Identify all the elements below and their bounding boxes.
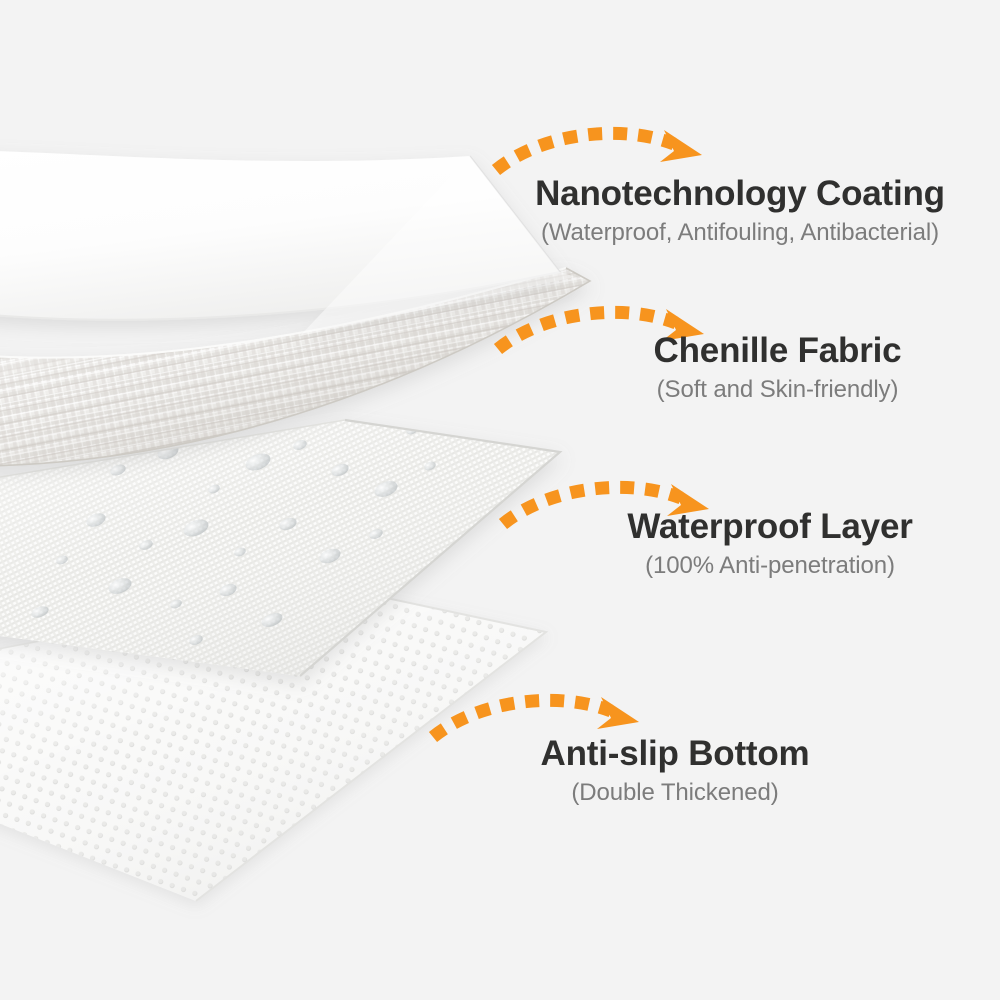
callout-title: Anti-slip Bottom <box>500 735 850 773</box>
callout-waterproof-layer: Waterproof Layer (100% Anti-penetration) <box>595 508 945 579</box>
callout-subtitle: (Soft and Skin-friendly) <box>600 376 955 404</box>
callout-title: Waterproof Layer <box>595 508 945 546</box>
callout-subtitle: (Double Thickened) <box>500 779 850 807</box>
callout-subtitle: (100% Anti-penetration) <box>595 552 945 580</box>
infographic-canvas: Nanotechnology Coating (Waterproof, Anti… <box>0 0 1000 1000</box>
callout-title: Chenille Fabric <box>600 332 955 370</box>
product-layer-illustration <box>0 0 1000 1000</box>
callout-title: Nanotechnology Coating <box>485 175 995 213</box>
callout-nanotechnology-coating: Nanotechnology Coating (Waterproof, Anti… <box>485 175 995 246</box>
callout-anti-slip-bottom: Anti-slip Bottom (Double Thickened) <box>500 735 850 806</box>
callout-subtitle: (Waterproof, Antifouling, Antibacterial) <box>485 219 995 247</box>
callout-chenille-fabric: Chenille Fabric (Soft and Skin-friendly) <box>600 332 955 403</box>
